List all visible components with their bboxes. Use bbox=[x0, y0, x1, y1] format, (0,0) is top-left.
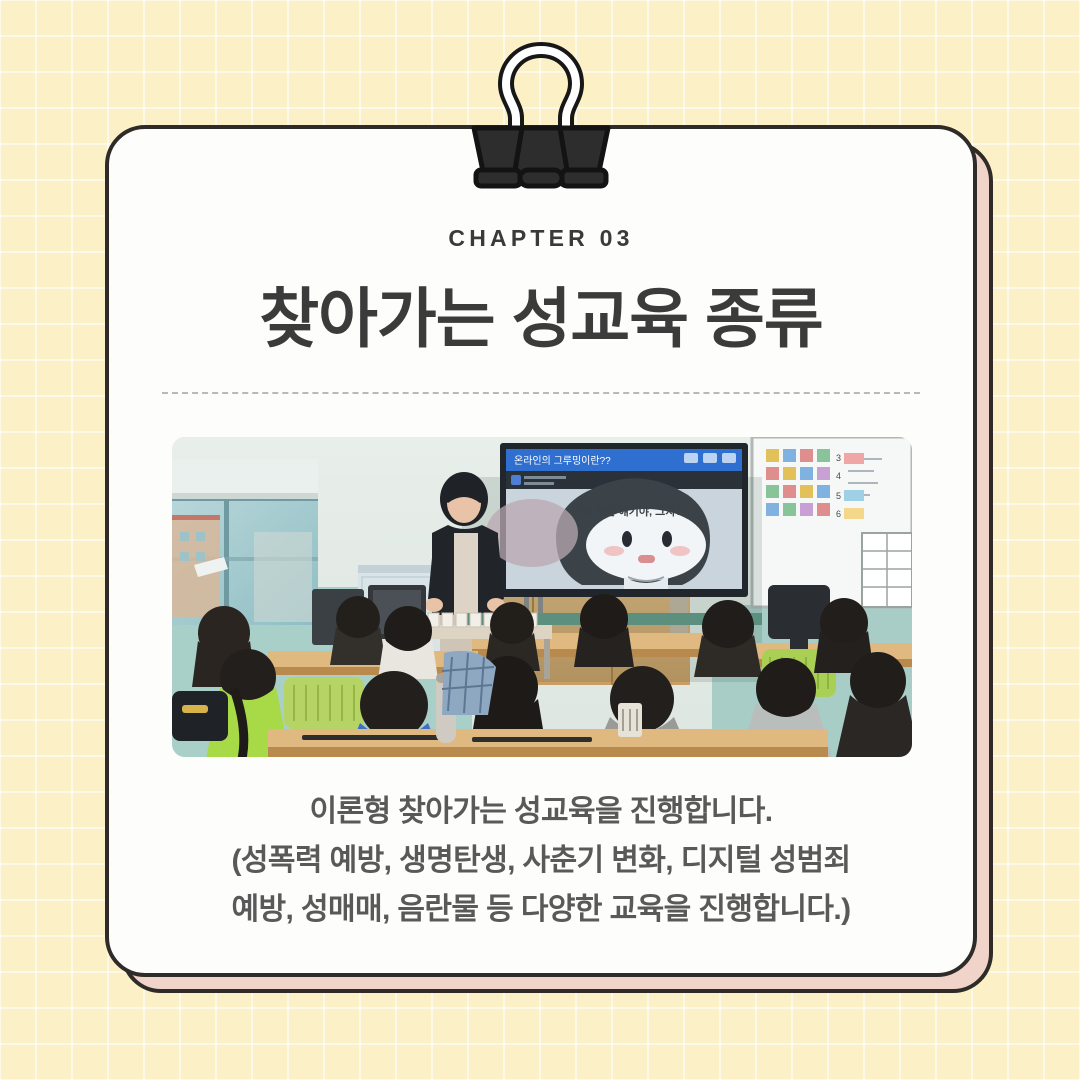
content-card: CHAPTER 03 찾아가는 성교육 종류 bbox=[105, 125, 977, 977]
classroom-photo-illustration: 3 4 5 6 온라인의 그루밍이란?? bbox=[172, 437, 912, 757]
section-divider bbox=[162, 392, 920, 394]
svg-text:4: 4 bbox=[836, 471, 841, 481]
caption-line-2: (성폭력 예방, 생명탄생, 사춘기 변화, 디지털 성범죄 bbox=[149, 836, 933, 885]
binder-clip-illustration bbox=[462, 40, 620, 192]
svg-text:3: 3 bbox=[836, 453, 841, 463]
screen-title-text: 온라인의 그루밍이란?? bbox=[514, 455, 611, 467]
page-title: 찾아가는 성교육 종류 bbox=[109, 266, 973, 360]
caption-line-1: 이론형 찾아가는 성교육을 진행합니다. bbox=[149, 787, 933, 836]
screen-subtitle-text: 이게 무슨 얘기야, 그치? bbox=[572, 504, 682, 518]
binder-clip-icon bbox=[462, 40, 620, 192]
caption-block: 이론형 찾아가는 성교육을 진행합니다. (성폭력 예방, 생명탄생, 사춘기 … bbox=[149, 787, 933, 934]
caption-line-3: 예방, 성매매, 음란물 등 다양한 교육을 진행합니다.) bbox=[149, 885, 933, 934]
poster-canvas: CHAPTER 03 찾아가는 성교육 종류 bbox=[0, 0, 1080, 1080]
chapter-label: CHAPTER 03 bbox=[109, 225, 973, 252]
svg-text:6: 6 bbox=[836, 509, 841, 519]
classroom-photo: 3 4 5 6 온라인의 그루밍이란?? bbox=[172, 437, 912, 757]
svg-text:5: 5 bbox=[836, 491, 841, 501]
